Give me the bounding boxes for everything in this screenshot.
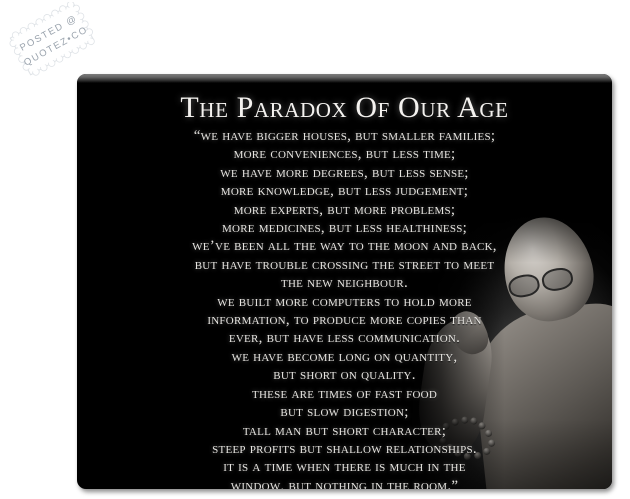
quote-line: “We have bigger houses, but smaller fami… [97,127,592,145]
poster-content: The Paradox Of Our Age “We have bigger h… [77,74,612,489]
quote-line: but have trouble crossing the street to … [97,256,592,274]
quote-line: We have become long on quantity, [97,348,592,366]
quote-line: We’ve been all the way to the moon and b… [97,237,592,255]
quote-line: Tall man but short character; [97,422,592,440]
poster-frame: The Paradox Of Our Age “We have bigger h… [33,33,595,470]
quote-line: We built more computers to hold more [97,293,592,311]
quote-line: but slow digestion; [97,403,592,421]
quote-line: window, but nothing in the room.” [97,477,592,489]
quote-line: More medicines, but less healthiness; [97,219,592,237]
quote-line: but short on quality. [97,366,592,384]
poster-panel: The Paradox Of Our Age “We have bigger h… [77,74,612,489]
quote-line: More experts, but more problems; [97,201,592,219]
quote-line: We have more degrees, but less sense; [97,164,592,182]
quote-line: information, to produce more copies than [97,311,592,329]
page-title: The Paradox Of Our Age [91,91,598,125]
quote-text: “We have bigger houses, but smaller fami… [91,127,598,489]
quote-line: ever, but have less communication. [97,329,592,347]
quote-line: More conveniences, but less time; [97,145,592,163]
quote-line: More knowledge, but less judgement; [97,182,592,200]
quote-line: These are times of fast food [97,385,592,403]
quote-line: the new neighbour. [97,274,592,292]
quote-line: Steep profits but shallow relationships. [97,440,592,458]
quote-line: It is a time when there is much in the [97,458,592,476]
